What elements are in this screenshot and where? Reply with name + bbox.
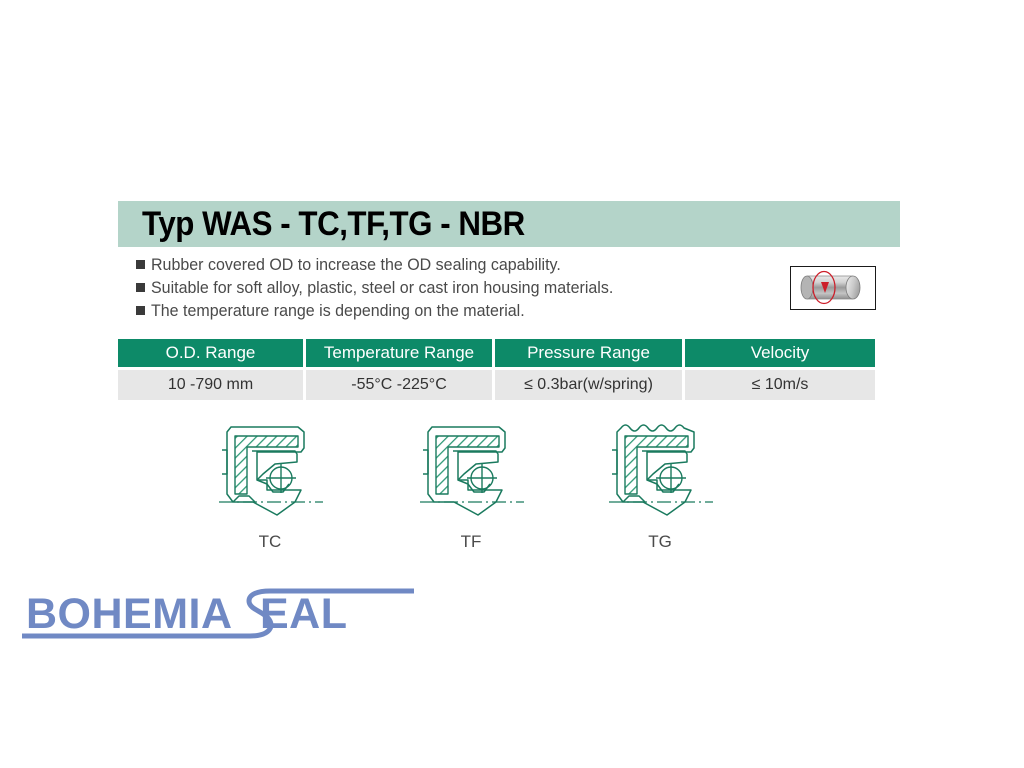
seal-label-tg: TG [595,532,725,552]
table-header-row: O.D. Range Temperature Range Pressure Ra… [118,339,875,370]
cell-velocity: ≤ 10m/s [685,370,875,400]
cell-od-range: 10 -790 mm [118,370,306,400]
square-bullet-icon [136,306,145,315]
seal-diagram-tc: TC [205,418,335,552]
logo-text-bohemia: BOHEMIA [26,590,233,638]
seal-label-tf: TF [406,532,536,552]
specification-table: O.D. Range Temperature Range Pressure Ra… [118,339,875,400]
column-header-velocity: Velocity [685,339,875,370]
list-item: Rubber covered OD to increase the OD sea… [136,256,756,279]
list-item: Suitable for soft alloy, plastic, steel … [136,279,756,302]
cell-temperature-range: -55°C -225°C [306,370,495,400]
bohemia-seal-logo: BOHEMIA EAL BOHEMIA SEAL [18,582,418,644]
logo-text-eal: EAL [260,590,348,638]
column-header-temperature-range: Temperature Range [306,339,495,370]
seal-diagram-tf: TF [406,418,536,552]
rotating-shaft-icon [790,266,876,310]
seal-label-tc: TC [205,532,335,552]
feature-text: The temperature range is depending on th… [151,302,525,321]
column-header-od-range: O.D. Range [118,339,306,370]
column-header-pressure-range: Pressure Range [495,339,685,370]
list-item: The temperature range is depending on th… [136,302,756,325]
cell-pressure-range: ≤ 0.3bar(w/spring) [495,370,685,400]
seal-diagram-tg: TG [595,418,725,552]
feature-list: Rubber covered OD to increase the OD sea… [136,256,756,325]
square-bullet-icon [136,260,145,269]
square-bullet-icon [136,283,145,292]
feature-text: Suitable for soft alloy, plastic, steel … [151,279,613,298]
table-row: 10 -790 mm -55°C -225°C ≤ 0.3bar(w/sprin… [118,370,875,400]
feature-text: Rubber covered OD to increase the OD sea… [151,256,561,275]
page-title: Typ WAS - TC,TF,TG - NBR [142,205,525,244]
title-band: Typ WAS - TC,TF,TG - NBR [118,201,900,247]
